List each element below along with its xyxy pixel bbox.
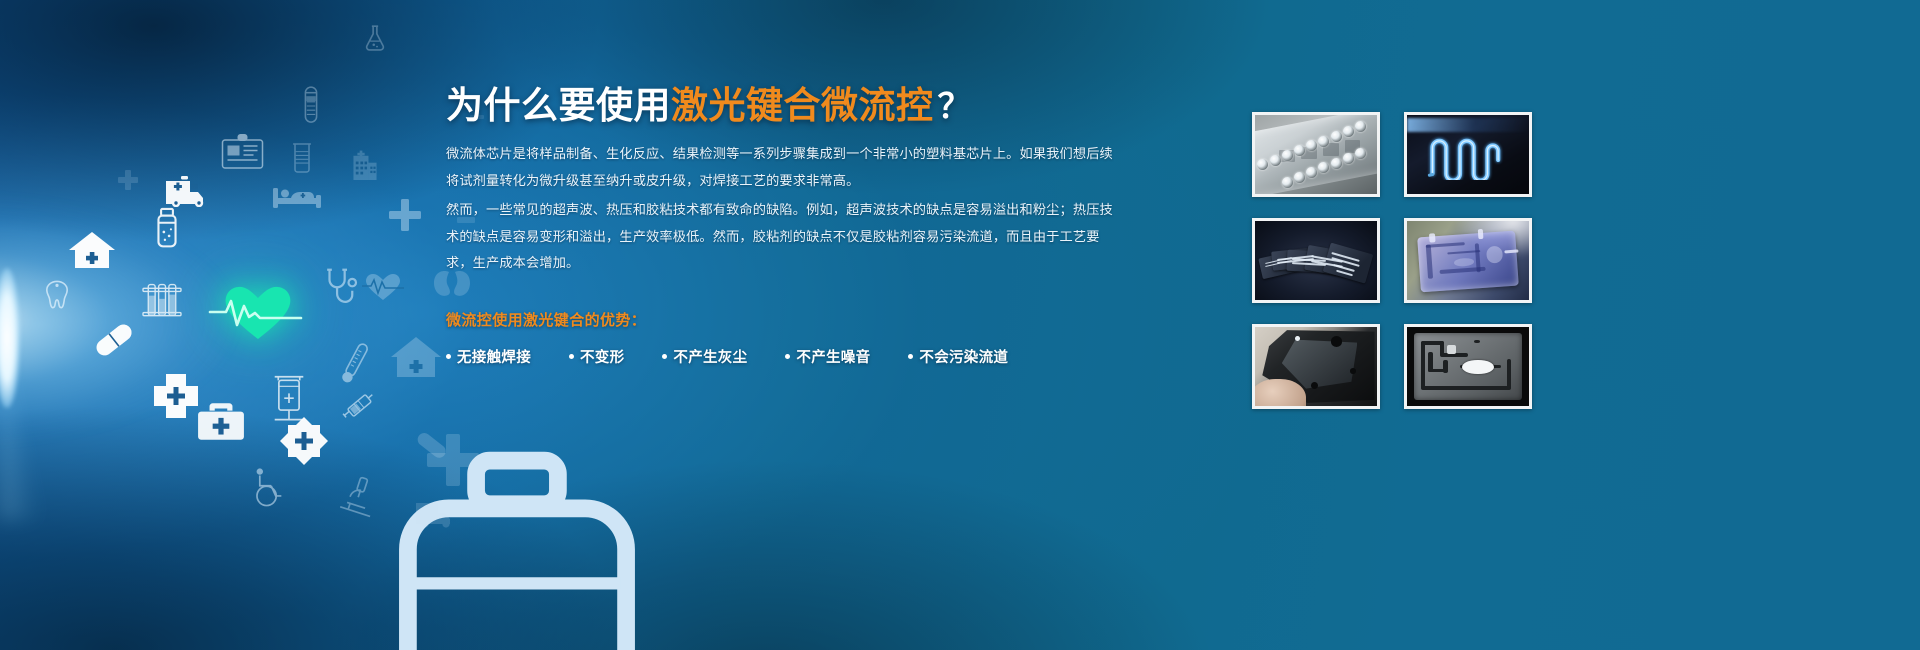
- light-source-core: [0, 268, 20, 408]
- top-light-streak: [1407, 118, 1529, 132]
- ambulance-small-icon: [415, 498, 459, 528]
- id-card-icon: [220, 132, 265, 170]
- advantage-item: 不产生灰尘: [662, 346, 747, 367]
- advantage-item: 无接触焊接: [446, 346, 531, 367]
- bullet-dot-icon: [785, 354, 790, 359]
- cross-small-icon: [118, 170, 138, 190]
- capsule-icon: [412, 425, 452, 465]
- bullet-dot-icon: [569, 354, 574, 359]
- first-aid-cross-icon: [150, 370, 202, 422]
- manifold-body: [1417, 230, 1518, 292]
- advantage-item: 不变形: [569, 346, 624, 367]
- beaker-icon: [288, 140, 316, 176]
- medical-badge-icon: [278, 415, 330, 467]
- clinic-house-icon: [68, 230, 116, 270]
- title-question-mark: ？: [938, 88, 973, 126]
- advantage-item: 不产生噪音: [785, 346, 870, 367]
- cartridge-plate: [1414, 333, 1521, 399]
- advantages-heading: 微流控使用激光键合的优势：: [446, 309, 1126, 330]
- advantage-label: 不产生噪音: [796, 346, 870, 367]
- test-tube-icon: [300, 85, 322, 127]
- body-paragraph-2: 然而，一些常见的超声波、热压和胶粘技术都有致命的缺陷。例如，超声波技术的缺点是容…: [446, 197, 1126, 277]
- gallery-image-blue-glowing-serpentine-channel: [1404, 112, 1532, 197]
- photo-surface: [1407, 115, 1529, 194]
- gallery-image-microfluidic-chip-with-ports: [1252, 112, 1380, 197]
- photo-surface: [1255, 327, 1377, 406]
- stethoscope-icon: [322, 268, 358, 310]
- advantage-label: 不产生灰尘: [673, 346, 747, 367]
- hospital-bed-icon: [272, 182, 322, 210]
- reaction-chamber: [1462, 360, 1494, 375]
- pill-capsule-icon: [92, 320, 136, 360]
- body-paragraph-1: 微流体芯片是将样品制备、生化反应、结果检测等一系列步骤集成到一个非常小的塑料基芯…: [446, 141, 1126, 195]
- product-photo-grid: [1252, 112, 1582, 402]
- iv-drip-icon: [272, 372, 306, 422]
- photo-surface: [1255, 115, 1377, 194]
- ecg-heart-icon: [362, 272, 404, 302]
- advantage-item: 不会污染流道: [908, 346, 1008, 367]
- photo-surface: [1407, 221, 1529, 300]
- test-tube-rack-icon: [140, 283, 184, 321]
- syringe-icon: [340, 388, 382, 430]
- tooth-icon: [42, 278, 72, 312]
- bullet-dot-icon: [446, 354, 451, 359]
- title-prefix: 为什么要使用: [446, 85, 671, 126]
- microscope-icon: [340, 475, 382, 519]
- plus-cross-icon: [425, 432, 481, 488]
- page-title: 为什么要使用激光键合微流控？: [446, 86, 1126, 125]
- plus-cross-icon: [388, 198, 422, 232]
- bullet-dot-icon: [908, 354, 913, 359]
- photo-surface: [1407, 327, 1529, 406]
- home-health-icon: [390, 335, 442, 379]
- gallery-image-fan-of-microfluidic-slides: [1252, 218, 1380, 303]
- title-highlight: 激光键合微流控: [671, 85, 934, 126]
- gallery-image-violet-transparent-manifold: [1404, 218, 1532, 303]
- advantage-label: 不会污染流道: [919, 346, 1008, 367]
- gallery-image-grey-cartridge-with-chamber: [1404, 324, 1532, 409]
- battery-health-icon: [367, 447, 667, 650]
- heartbeat-heart-icon: [208, 272, 308, 346]
- copy-column: 为什么要使用激光键合微流控？ 微流体芯片是将样品制备、生化反应、结果检测等一系列…: [446, 86, 1126, 367]
- hospital-building-icon: [350, 148, 380, 182]
- gallery-image-black-polymer-cartridge-in-hand: [1252, 324, 1380, 409]
- medical-bag-icon: [196, 400, 246, 442]
- ambulance-icon: [165, 175, 213, 207]
- bullet-dot-icon: [662, 354, 667, 359]
- medicine-bottle-icon: [152, 207, 182, 249]
- promo-banner: 为什么要使用激光键合微流控？ 微流体芯片是将样品制备、生化反应、结果检测等一系列…: [0, 0, 1920, 650]
- advantage-label: 无接触焊接: [457, 346, 531, 367]
- serpentine-channel: [1420, 134, 1515, 180]
- photo-surface: [1255, 221, 1377, 300]
- flask-icon: [360, 20, 390, 56]
- advantage-label: 不变形: [580, 346, 624, 367]
- hand: [1252, 379, 1306, 409]
- wheelchair-icon: [253, 467, 287, 509]
- thermometer-icon: [340, 340, 370, 386]
- advantages-list: 无接触焊接 不变形 不产生灰尘 不产生噪音 不会污染流道: [446, 346, 1126, 367]
